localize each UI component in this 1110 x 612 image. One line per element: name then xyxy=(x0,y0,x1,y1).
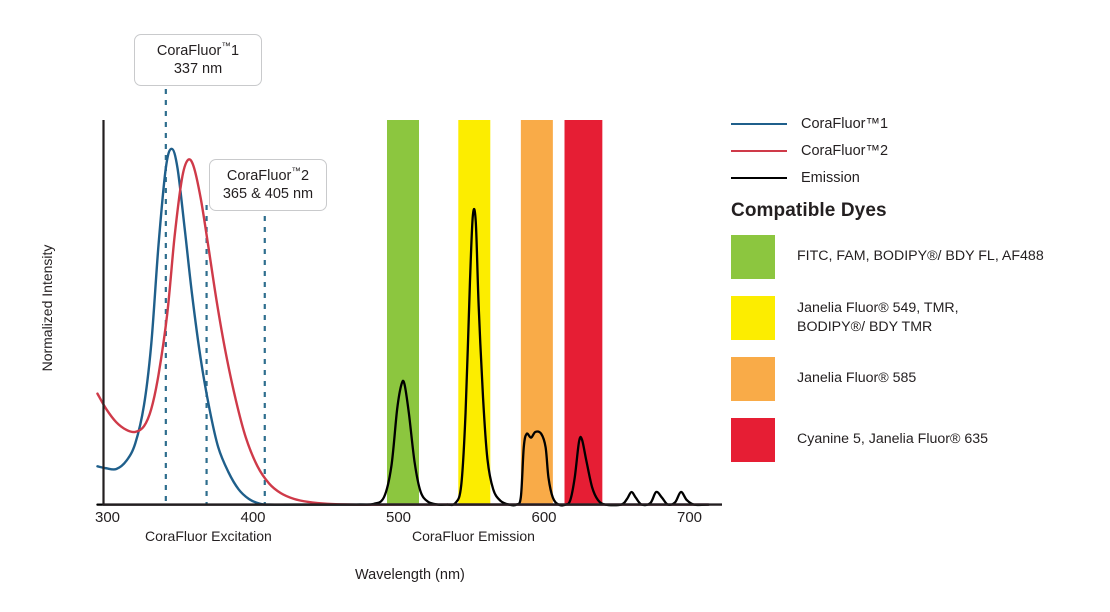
dye-label: Cyanine 5, Janelia Fluor® 635 xyxy=(797,430,988,449)
y-axis-title: Normalized Intensity xyxy=(39,228,55,388)
x-tick-label: 300 xyxy=(95,509,120,526)
series-legend: CoraFluor™1CoraFluor™2Emission xyxy=(731,110,1101,191)
dye-label: Janelia Fluor® 585 xyxy=(797,369,916,388)
x-tick-label: 400 xyxy=(241,509,266,526)
legend-line-swatch xyxy=(731,150,787,152)
dye-label-line: Janelia Fluor® 549, TMR, xyxy=(797,299,959,318)
x-axis-title: Wavelength (nm) xyxy=(355,567,465,583)
legend-item-label: Emission xyxy=(801,170,860,186)
dye-band xyxy=(387,120,419,505)
legend-item: Emission xyxy=(731,164,1101,191)
dye-label-line: FITC, FAM, BODIPY®/ BDY FL, AF488 xyxy=(797,247,1044,266)
x-tick-label: 700 xyxy=(677,509,702,526)
dye-label-line: BODIPY®/ BDY TMR xyxy=(797,318,959,337)
callout-corafluor-1: CoraFluor™1 337 nm xyxy=(134,34,262,86)
dye-label: Janelia Fluor® 549, TMR,BODIPY®/ BDY TMR xyxy=(797,299,959,337)
dye-label-line: Cyanine 5, Janelia Fluor® 635 xyxy=(797,430,988,449)
dye-color-swatch xyxy=(731,296,775,340)
dye-color-swatch xyxy=(731,418,775,462)
legend-item-label: CoraFluor™2 xyxy=(801,143,888,159)
excitation-range-label: CoraFluor Excitation xyxy=(145,528,272,544)
x-tick-label: 500 xyxy=(386,509,411,526)
legend-item-label: CoraFluor™1 xyxy=(801,116,888,132)
dye-list-item: Janelia Fluor® 585 xyxy=(731,357,1106,401)
emission-range-label: CoraFluor Emission xyxy=(412,528,535,544)
dye-label-line: Janelia Fluor® 585 xyxy=(797,369,916,388)
legend-line-swatch xyxy=(731,177,787,179)
legend-line-swatch xyxy=(731,123,787,125)
x-tick-label: 600 xyxy=(532,509,557,526)
callout-1-title: CoraFluor™1 xyxy=(145,41,251,61)
callout-1-value: 337 nm xyxy=(145,61,251,79)
legend-item: CoraFluor™2 xyxy=(731,137,1101,164)
dye-list-item: Janelia Fluor® 549, TMR,BODIPY®/ BDY TMR xyxy=(731,296,1106,340)
callout-2-value: 365 & 405 nm xyxy=(220,186,316,204)
trademark-symbol: ™ xyxy=(221,41,231,52)
trademark-symbol: ™ xyxy=(291,166,301,177)
dye-list-item: FITC, FAM, BODIPY®/ BDY FL, AF488 xyxy=(731,235,1106,279)
legend-item: CoraFluor™1 xyxy=(731,110,1101,137)
callout-2-title: CoraFluor™2 xyxy=(220,166,316,186)
callout-corafluor-2: CoraFluor™2 365 & 405 nm xyxy=(209,159,327,211)
dye-bands-group xyxy=(387,120,602,505)
dye-color-swatch xyxy=(731,357,775,401)
compatible-dyes-list: FITC, FAM, BODIPY®/ BDY FL, AF488Janelia… xyxy=(731,235,1106,479)
dye-band xyxy=(521,120,553,505)
dye-color-swatch xyxy=(731,235,775,279)
dye-list-item: Cyanine 5, Janelia Fluor® 635 xyxy=(731,418,1106,462)
dye-label: FITC, FAM, BODIPY®/ BDY FL, AF488 xyxy=(797,247,1044,266)
compatible-dyes-title: Compatible Dyes xyxy=(731,200,887,222)
fluorescence-spectra-figure: CoraFluor™1 337 nm CoraFluor™2 365 & 405… xyxy=(0,0,1110,612)
